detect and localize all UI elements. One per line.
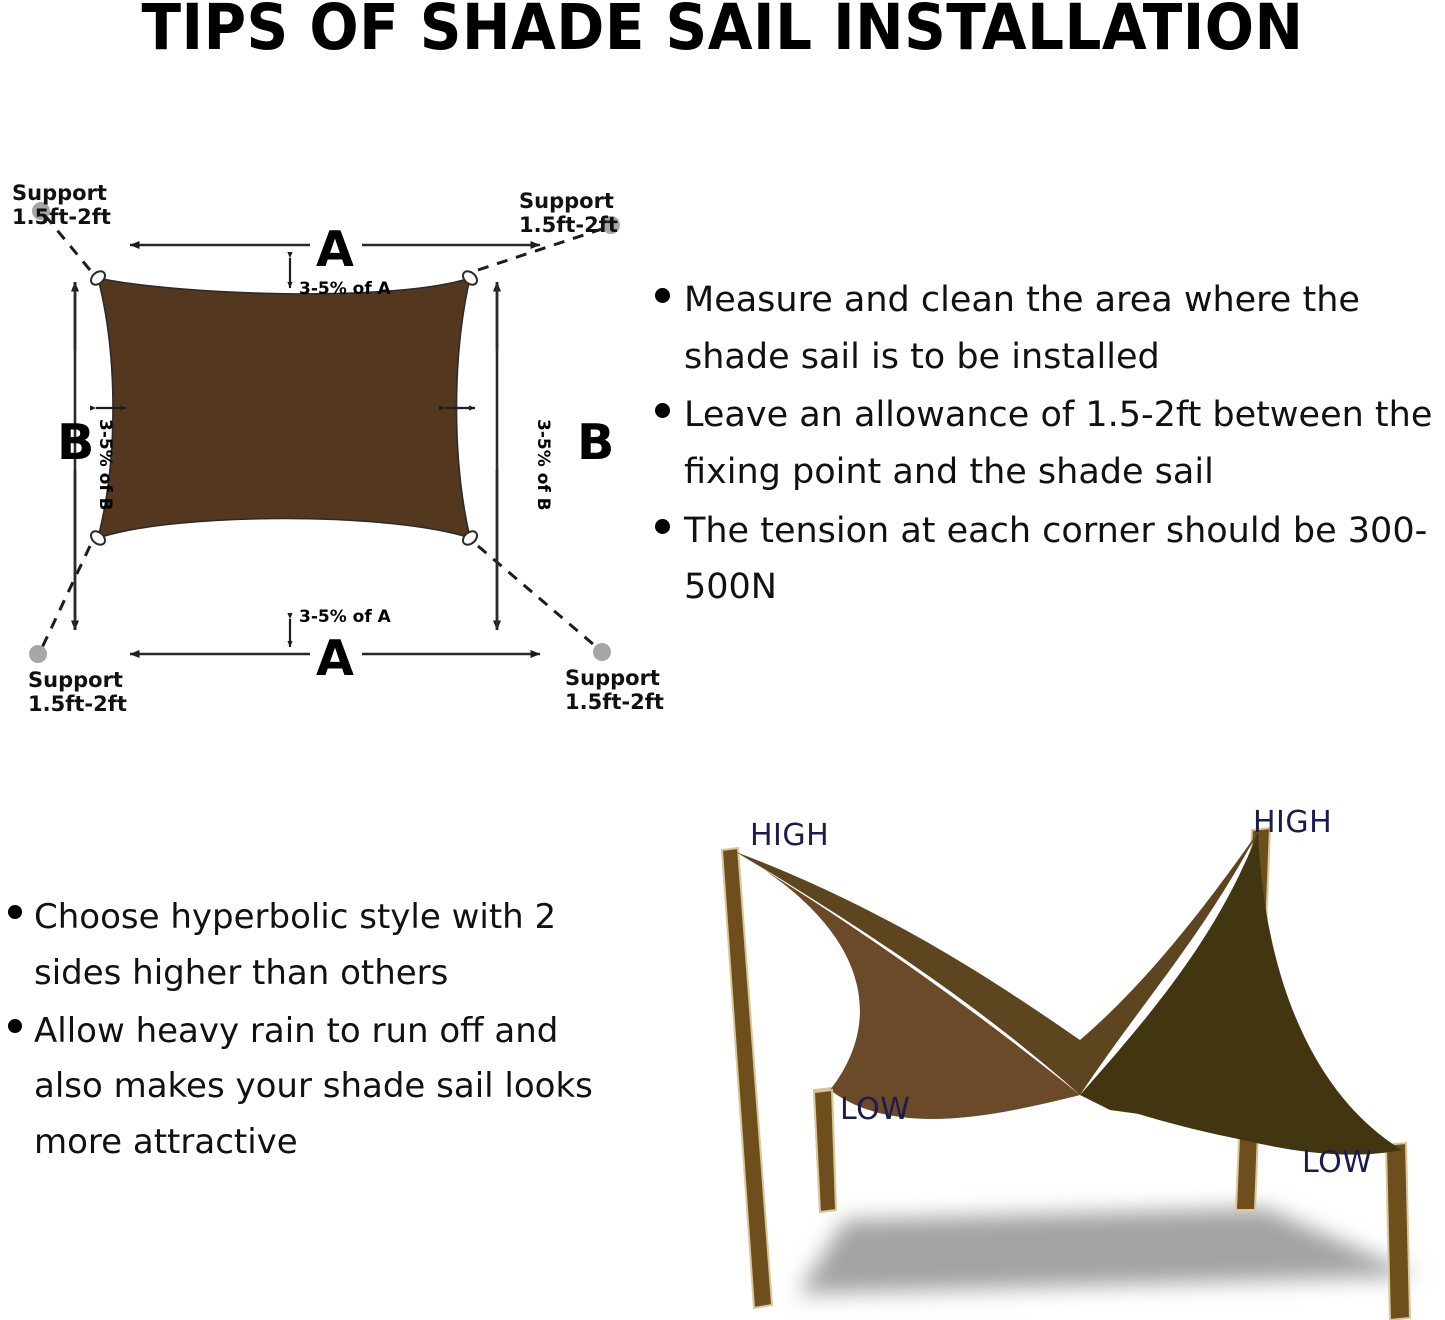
post-low-left-front xyxy=(814,1090,836,1212)
curve-depth-label-top: 3-5% of A xyxy=(299,281,391,298)
hyperbolic-diagram-graphics xyxy=(680,790,1445,1320)
bullet-icon xyxy=(655,288,670,303)
installation-tips-list: Measure and clean the area where the sha… xyxy=(655,272,1445,618)
list-item-text: Leave an allowance of 1.5-2ft between th… xyxy=(684,387,1445,500)
dimension-label-a-top: A xyxy=(316,225,354,274)
shade-sail-shape xyxy=(98,278,470,538)
list-item: Allow heavy rain to run off and also mak… xyxy=(8,1004,633,1171)
list-item: Measure and clean the area where the sha… xyxy=(655,272,1445,385)
support-label-top-left: Support 1.5ft-2ft xyxy=(12,182,111,230)
post-high-left xyxy=(722,848,772,1308)
label-low-right: LOW xyxy=(1302,1145,1372,1180)
page-title: TIPS OF SHADE SAIL INSTALLATION xyxy=(58,0,1387,60)
curve-depth-label-right: 3-5% of B xyxy=(534,419,551,511)
hyperbolic-style-tips-list: Choose hyperbolic style with 2 sides hig… xyxy=(8,890,633,1173)
curve-depth-label-left: 3-5% of B xyxy=(96,419,113,511)
list-item: Choose hyperbolic style with 2 sides hig… xyxy=(8,890,633,1002)
bullet-icon xyxy=(8,1019,22,1033)
list-item-text: Choose hyperbolic style with 2 sides hig… xyxy=(34,890,633,1002)
support-label-line2: 1.5ft-2ft xyxy=(28,693,127,717)
support-label-bottom-right: Support 1.5ft-2ft xyxy=(565,667,664,715)
label-high-left: HIGH xyxy=(750,818,829,853)
list-item: The tension at each corner should be 300… xyxy=(655,503,1445,616)
list-item-text: Measure and clean the area where the sha… xyxy=(684,272,1445,385)
bullet-icon xyxy=(655,403,670,418)
dimension-label-a-bottom: A xyxy=(316,634,354,683)
bullet-icon xyxy=(8,905,22,919)
ground-shadow xyxy=(798,1208,1420,1294)
list-item-text: The tension at each corner should be 300… xyxy=(684,503,1445,616)
support-label-line2: 1.5ft-2ft xyxy=(565,691,664,715)
dimension-label-b-left: B xyxy=(57,418,94,467)
support-label-line1: Support xyxy=(565,667,664,691)
support-label-line2: 1.5ft-2ft xyxy=(12,206,111,230)
label-high-right: HIGH xyxy=(1253,805,1332,840)
support-label-line1: Support xyxy=(28,669,127,693)
support-label-line1: Support xyxy=(12,182,111,206)
curve-depth-label-bottom: 3-5% of A xyxy=(299,609,391,626)
dimension-label-b-right: B xyxy=(577,418,614,467)
list-item: Leave an allowance of 1.5-2ft between th… xyxy=(655,387,1445,500)
sail-panel-left xyxy=(736,852,1080,1119)
support-label-line2: 1.5ft-2ft xyxy=(519,214,618,238)
support-label-line1: Support xyxy=(519,190,618,214)
poster-root: TIPS OF SHADE SAIL INSTALLATION xyxy=(0,0,1445,1319)
support-label-top-right: Support 1.5ft-2ft xyxy=(519,190,618,238)
bullet-icon xyxy=(655,519,670,534)
list-item-text: Allow heavy rain to run off and also mak… xyxy=(34,1004,633,1171)
label-low-left: LOW xyxy=(840,1092,910,1127)
support-label-bottom-left: Support 1.5ft-2ft xyxy=(28,669,127,717)
post-low-right xyxy=(1386,1143,1410,1320)
